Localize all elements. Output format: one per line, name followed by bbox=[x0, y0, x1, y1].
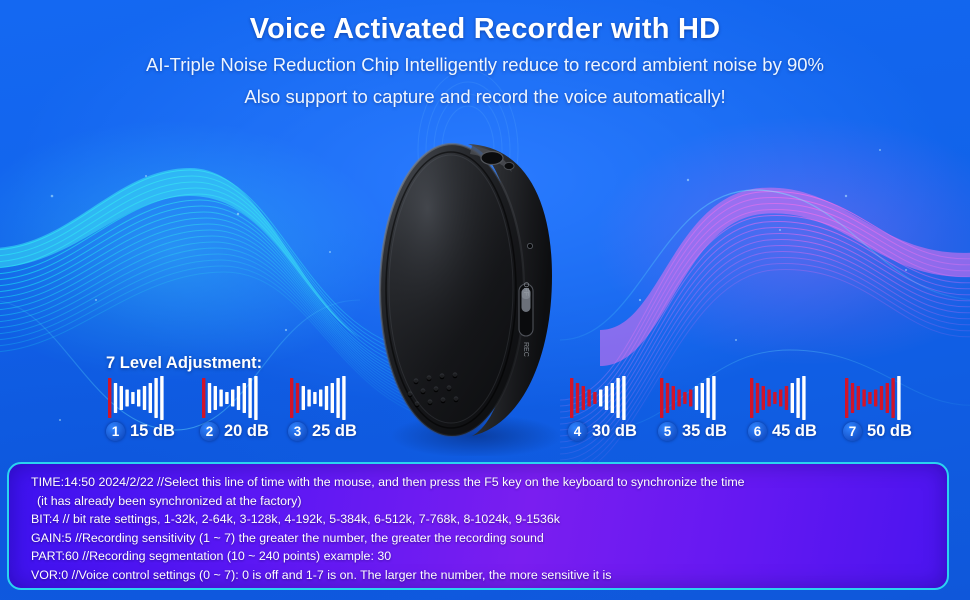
settings-line-3[interactable]: BIT:4 // bit rate settings, 1-32k, 2-64k… bbox=[31, 510, 947, 529]
waveform-icon bbox=[660, 376, 718, 420]
level-caption: 535 dB bbox=[658, 422, 750, 441]
level-adjustment-heading: 7 Level Adjustment: bbox=[106, 354, 262, 373]
settings-line-4[interactable]: GAIN:5 //Recording sensitivity (1 ~ 7) t… bbox=[31, 529, 947, 548]
svg-text:OFF: OFF bbox=[522, 282, 529, 296]
level-db-value: 45 dB bbox=[772, 422, 817, 441]
level-indicator-5[interactable]: 535 dB bbox=[658, 376, 750, 441]
level-caption: 325 dB bbox=[288, 422, 380, 441]
level-caption: 750 dB bbox=[843, 422, 935, 441]
level-caption: 645 dB bbox=[748, 422, 840, 441]
level-caption: 220 dB bbox=[200, 422, 292, 441]
waveform-icon bbox=[845, 376, 903, 420]
level-db-value: 50 dB bbox=[867, 422, 912, 441]
level-number-badge: 7 bbox=[843, 422, 862, 441]
subtitle-line-1: AI-Triple Noise Reduction Chip Intellige… bbox=[0, 53, 970, 78]
waveform-icon bbox=[570, 376, 628, 420]
level-number-badge: 4 bbox=[568, 422, 587, 441]
waveform-icon bbox=[290, 376, 348, 420]
waveform-icon bbox=[750, 376, 808, 420]
level-number-badge: 1 bbox=[106, 422, 125, 441]
level-caption: 430 dB bbox=[568, 422, 660, 441]
level-db-value: 35 dB bbox=[682, 422, 727, 441]
svg-text:REC: REC bbox=[522, 342, 529, 357]
level-indicator-7[interactable]: 750 dB bbox=[843, 376, 935, 441]
level-number-badge: 2 bbox=[200, 422, 219, 441]
level-indicator-1[interactable]: 115 dB bbox=[106, 376, 198, 441]
waveform-icon bbox=[202, 376, 260, 420]
settings-config-panel[interactable]: TIME:14:50 2024/2/22 //Select this line … bbox=[7, 462, 949, 590]
level-db-value: 25 dB bbox=[312, 422, 357, 441]
level-db-value: 20 dB bbox=[224, 422, 269, 441]
level-number-badge: 5 bbox=[658, 422, 677, 441]
level-caption: 115 dB bbox=[106, 422, 198, 441]
level-number-badge: 6 bbox=[748, 422, 767, 441]
settings-line-2[interactable]: (it has already been synchronized at the… bbox=[31, 492, 947, 511]
subtitle-line-2: Also support to capture and record the v… bbox=[0, 85, 970, 110]
level-indicator-4[interactable]: 430 dB bbox=[568, 376, 660, 441]
settings-line-6[interactable]: VOR:0 //Voice control settings (0 ~ 7): … bbox=[31, 566, 947, 585]
product-banner: Voice Activated Recorder with HD AI-Trip… bbox=[0, 0, 970, 600]
banner-header: Voice Activated Recorder with HD AI-Trip… bbox=[0, 12, 970, 110]
level-indicator-2[interactable]: 220 dB bbox=[200, 376, 292, 441]
waveform-icon bbox=[108, 376, 166, 420]
level-number-badge: 3 bbox=[288, 422, 307, 441]
settings-line-5[interactable]: PART:60 //Recording segmentation (10 ~ 2… bbox=[31, 547, 947, 566]
level-indicator-6[interactable]: 645 dB bbox=[748, 376, 840, 441]
settings-line-1[interactable]: TIME:14:50 2024/2/22 //Select this line … bbox=[31, 473, 947, 492]
page-title: Voice Activated Recorder with HD bbox=[0, 12, 970, 46]
voice-recorder-device: OFF REC bbox=[372, 136, 570, 456]
level-db-value: 15 dB bbox=[130, 422, 175, 441]
level-indicator-3[interactable]: 325 dB bbox=[288, 376, 380, 441]
level-db-value: 30 dB bbox=[592, 422, 637, 441]
